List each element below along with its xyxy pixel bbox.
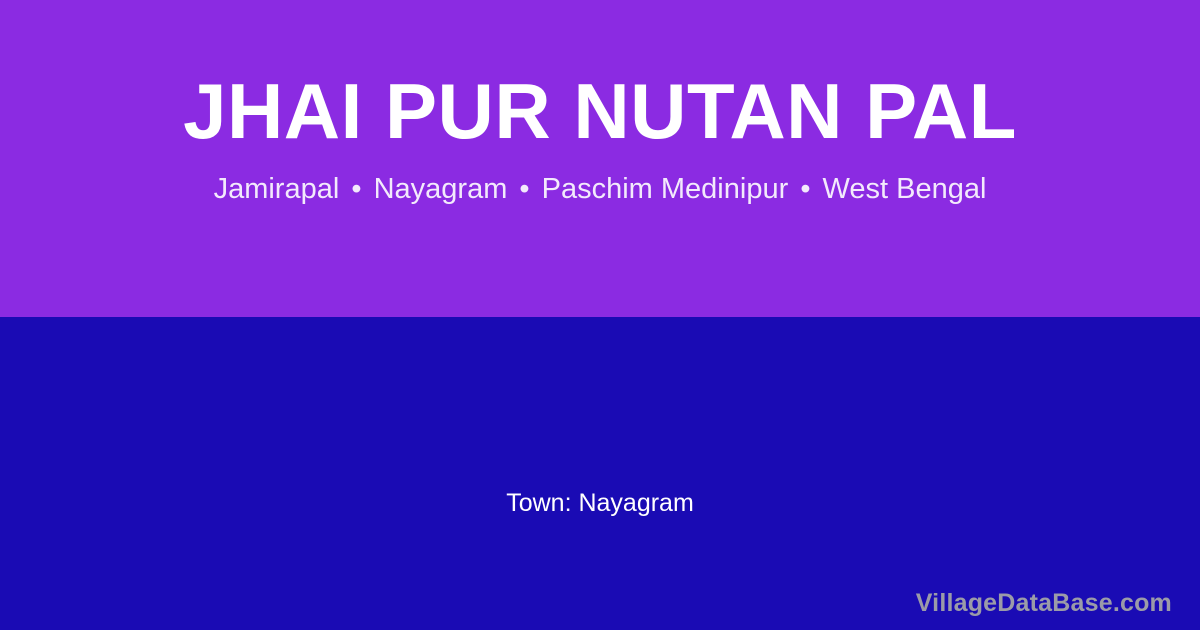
town-detail-line: Town: Nayagram [0, 489, 1200, 518]
breadcrumb-separator: • [796, 173, 814, 205]
breadcrumb: Jamirapal • Nayagram • Paschim Medinipur… [214, 174, 987, 206]
breadcrumb-item-block: Nayagram [374, 173, 508, 205]
village-info-card: JHAI PUR NUTAN PAL Jamirapal • Nayagram … [0, 0, 1200, 630]
breadcrumb-item-state: West Bengal [823, 173, 987, 205]
header-banner: JHAI PUR NUTAN PAL Jamirapal • Nayagram … [0, 0, 1200, 317]
breadcrumb-separator: • [515, 173, 533, 205]
breadcrumb-item-panchayat: Jamirapal [214, 173, 340, 205]
content-area: Town: Nayagram VillageDataBase.com [0, 317, 1200, 630]
breadcrumb-item-district: Paschim Medinipur [542, 173, 789, 205]
breadcrumb-separator: • [347, 173, 365, 205]
site-brand-watermark: VillageDataBase.com [916, 589, 1172, 618]
page-title: JHAI PUR NUTAN PAL [183, 72, 1017, 150]
